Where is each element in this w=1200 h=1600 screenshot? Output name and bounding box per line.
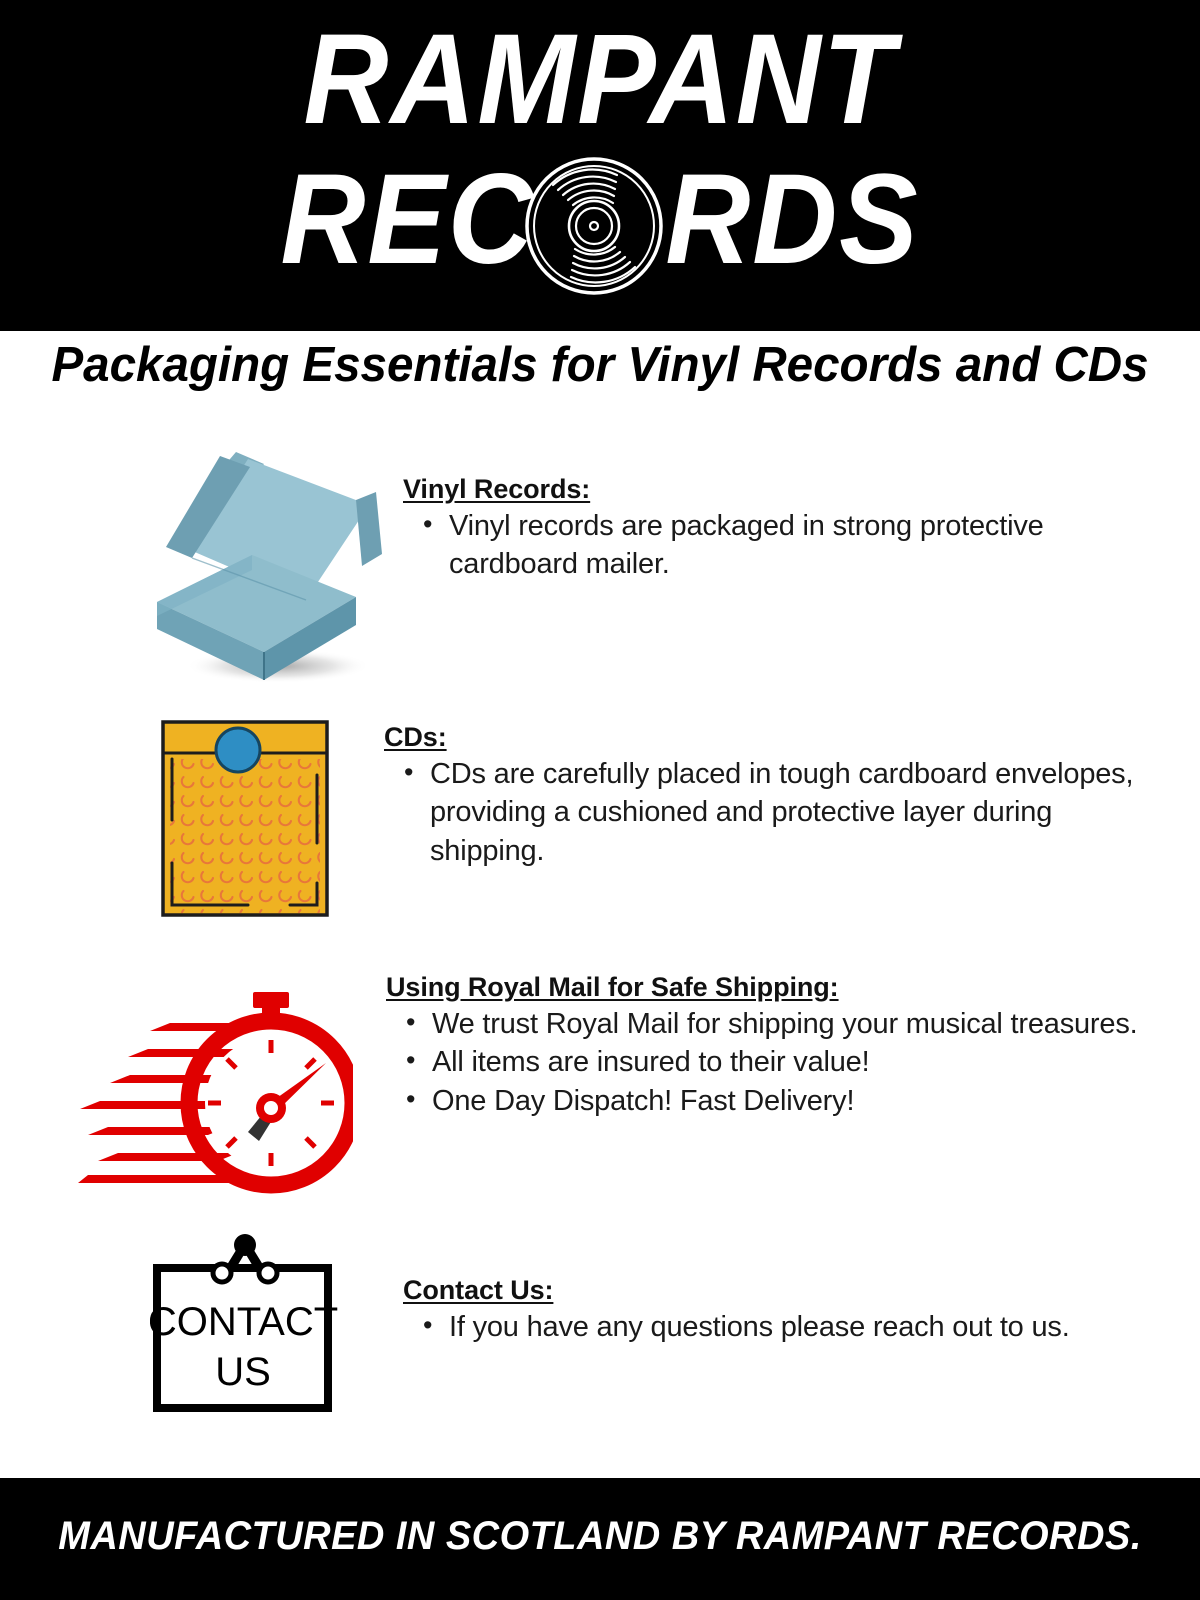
section-contact-us-text: Contact Us: If you have any questions pl…: [403, 1275, 1163, 1346]
list-item: If you have any questions please reach o…: [449, 1308, 1163, 1346]
cardboard-mailer-box-icon: [130, 430, 400, 695]
section-heading-royal-mail: Using Royal Mail for Safe Shipping:: [386, 972, 1146, 1003]
section-vinyl-records-text: Vinyl Records: Vinyl records are package…: [403, 474, 1143, 584]
bullet-list-royal-mail: We trust Royal Mail for shipping your mu…: [386, 1005, 1146, 1120]
bullet-list-cds: CDs are carefully placed in tough cardbo…: [384, 755, 1144, 870]
list-item: We trust Royal Mail for shipping your mu…: [432, 1005, 1146, 1043]
page-subtitle: Packaging Essentials for Vinyl Records a…: [18, 337, 1182, 393]
bullet-list-contact-us: If you have any questions please reach o…: [403, 1308, 1163, 1346]
sign-line-1: CONTACT: [150, 1300, 338, 1344]
section-cds-text: CDs: CDs are carefully placed in tough c…: [384, 722, 1144, 870]
brand-name-line-1: RAMPANT: [48, 16, 1152, 144]
bullet-list-vinyl: Vinyl records are packaged in strong pro…: [403, 507, 1143, 584]
section-heading-cds: CDs:: [384, 722, 1144, 753]
list-item: CDs are carefully placed in tough cardbo…: [430, 755, 1144, 870]
footer-band: MANUFACTURED IN SCOTLAND BY RAMPANT RECO…: [0, 1478, 1200, 1600]
list-item: All items are insured to their value!: [432, 1043, 1146, 1081]
vinyl-record-icon: [525, 157, 663, 295]
brand-line2-prefix: REC: [281, 148, 535, 291]
brand-line2-suffix: RDS: [665, 148, 919, 291]
sign-line-2: US: [215, 1350, 271, 1394]
contact-us-sign-icon: CONTACT US: [150, 1225, 340, 1415]
section-heading-vinyl: Vinyl Records:: [403, 474, 1143, 505]
footer-text: MANUFACTURED IN SCOTLAND BY RAMPANT RECO…: [30, 1514, 1170, 1559]
list-item: Vinyl records are packaged in strong pro…: [449, 507, 1143, 584]
padded-envelope-icon: [160, 715, 330, 920]
fast-stopwatch-icon: [78, 960, 353, 1195]
list-item: One Day Dispatch! Fast Delivery!: [432, 1082, 1146, 1120]
section-royal-mail-text: Using Royal Mail for Safe Shipping: We t…: [386, 972, 1146, 1120]
header-band: RAMPANT RECRDS: [0, 0, 1200, 331]
section-heading-contact-us: Contact Us:: [403, 1275, 1163, 1306]
